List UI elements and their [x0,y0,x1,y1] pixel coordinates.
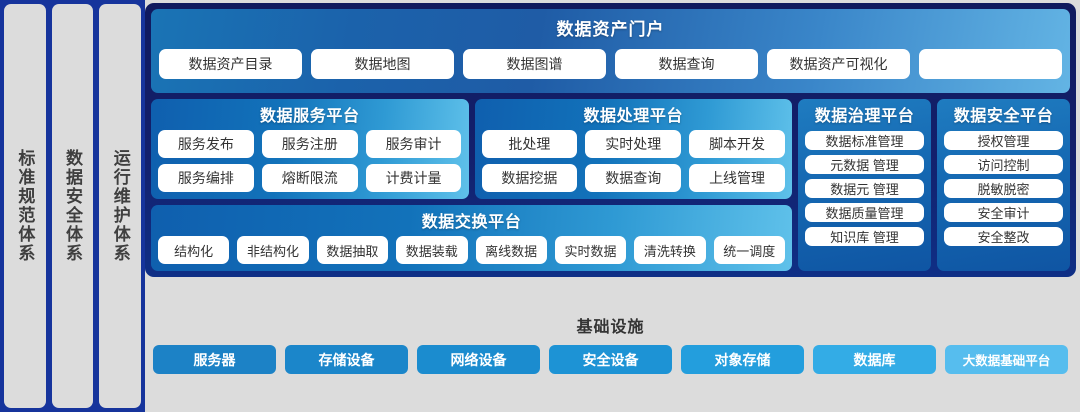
item-circuit-breaker-throttling[interactable]: 熔断限流 [262,164,358,192]
platform-right-group: 数据治理平台 数据标准管理 元数据 管理 数据元 管理 数据质量管理 知识库 管… [798,99,1070,271]
panel-data-security-platform: 数据安全平台 授权管理 访问控制 脱敏脱密 安全审计 安全整改 [937,99,1070,271]
infra-item-database[interactable]: 数据库 [813,345,936,374]
sidebar-item-operations-maintenance-system[interactable]: 运行维护体系 [99,4,141,408]
portal-item-list: 数据资产目录 数据地图 数据图谱 数据查询 数据资产可视化 [159,49,1062,79]
infrastructure-section: 基础设施 服务器 存储设备 网络设备 安全设备 对象存储 数据库 大数据基础平台 [145,282,1076,408]
platform-row: 数据服务平台 服务发布 服务注册 服务审计 服务编排 熔断限流 [151,99,1070,271]
panel-item-grid: 批处理 实时处理 脚本开发 数据挖据 数据查询 上线管理 [482,130,786,192]
portal-item-data-graph[interactable]: 数据图谱 [463,49,606,79]
portal-item-empty[interactable] [919,49,1062,79]
infrastructure-title: 基础设施 [153,314,1068,342]
item-data-mining[interactable]: 数据挖据 [482,164,578,192]
panel-item-grid: 数据标准管理 元数据 管理 数据元 管理 数据质量管理 知识库 管理 [805,131,924,246]
sidebar-item-label: 标准规范体系 [15,149,34,263]
item-release-management[interactable]: 上线管理 [689,164,785,192]
item-data-loading[interactable]: 数据装载 [396,236,467,264]
sidebar-item-standards-system[interactable]: 标准规范体系 [4,4,46,408]
item-billing-metering[interactable]: 计费计量 [366,164,462,192]
infrastructure-item-list: 服务器 存储设备 网络设备 安全设备 对象存储 数据库 大数据基础平台 [153,345,1068,374]
sidebar: 标准规范体系 数据安全体系 运行维护体系 [0,0,145,412]
main-column: 数据资产门户 数据资产目录 数据地图 数据图谱 数据查询 数据资产可视化 [145,0,1080,412]
portal-item-data-map[interactable]: 数据地图 [311,49,454,79]
panel-data-service-platform: 数据服务平台 服务发布 服务注册 服务审计 服务编排 熔断限流 [151,99,469,199]
item-service-audit[interactable]: 服务审计 [366,130,462,158]
infra-item-object-storage[interactable]: 对象存储 [681,345,804,374]
item-service-orchestration[interactable]: 服务编排 [158,164,254,192]
infra-item-network-device[interactable]: 网络设备 [417,345,540,374]
item-realtime-processing[interactable]: 实时处理 [585,130,681,158]
item-security-rectification[interactable]: 安全整改 [944,227,1063,246]
item-metadata-management[interactable]: 元数据 管理 [805,155,924,174]
portal-item-data-asset-catalog[interactable]: 数据资产目录 [159,49,302,79]
item-batch-processing[interactable]: 批处理 [482,130,578,158]
panel-title: 数据治理平台 [805,104,924,130]
panel-item-grid: 服务发布 服务注册 服务审计 服务编排 熔断限流 计费计量 [158,130,462,192]
platform-left-group: 数据服务平台 服务发布 服务注册 服务审计 服务编排 熔断限流 [151,99,792,271]
item-offline-data[interactable]: 离线数据 [476,236,547,264]
architecture-diagram: 标准规范体系 数据安全体系 运行维护体系 数据资产门户 数据资产目录 数据地图 … [0,0,1080,412]
item-data-query[interactable]: 数据查询 [585,164,681,192]
panel-title: 数据安全平台 [944,104,1063,130]
infra-item-security-device[interactable]: 安全设备 [549,345,672,374]
infra-item-bigdata-platform[interactable]: 大数据基础平台 [945,345,1068,374]
panel-title: 数据处理平台 [482,104,786,130]
sidebar-item-label: 运行维护体系 [111,149,130,263]
panel-item-grid: 授权管理 访问控制 脱敏脱密 安全审计 安全整改 [944,131,1063,246]
item-structured[interactable]: 结构化 [158,236,229,264]
infra-item-storage-device[interactable]: 存储设备 [285,345,408,374]
item-data-element-management[interactable]: 数据元 管理 [805,179,924,198]
item-service-publish[interactable]: 服务发布 [158,130,254,158]
item-data-quality-management[interactable]: 数据质量管理 [805,203,924,222]
panel-item-row: 服务编排 熔断限流 计费计量 [158,164,462,192]
item-unified-scheduling[interactable]: 统一调度 [714,236,785,264]
item-script-development[interactable]: 脚本开发 [689,130,785,158]
panel-data-exchange-platform: 数据交换平台 结构化 非结构化 数据抽取 数据装载 离线数据 实时数据 清洗转换… [151,205,792,271]
platform-frame: 数据资产门户 数据资产目录 数据地图 数据图谱 数据查询 数据资产可视化 [145,3,1076,277]
item-knowledge-base-management[interactable]: 知识库 管理 [805,227,924,246]
platform-top-pair: 数据服务平台 服务发布 服务注册 服务审计 服务编排 熔断限流 [151,99,792,199]
item-data-standard-management[interactable]: 数据标准管理 [805,131,924,150]
item-data-extraction[interactable]: 数据抽取 [317,236,388,264]
panel-title: 数据交换平台 [158,210,785,236]
panel-item-row: 服务发布 服务注册 服务审计 [158,130,462,158]
portal-title: 数据资产门户 [159,15,1062,45]
item-authorization-management[interactable]: 授权管理 [944,131,1063,150]
portal-item-data-query[interactable]: 数据查询 [615,49,758,79]
infra-item-server[interactable]: 服务器 [153,345,276,374]
panel-item-row: 结构化 非结构化 数据抽取 数据装载 离线数据 实时数据 清洗转换 统一调度 [158,236,785,264]
panel-item-row: 数据挖据 数据查询 上线管理 [482,164,786,192]
item-realtime-data[interactable]: 实时数据 [555,236,626,264]
portal-item-data-asset-visualization[interactable]: 数据资产可视化 [767,49,910,79]
item-security-audit[interactable]: 安全审计 [944,203,1063,222]
item-access-control[interactable]: 访问控制 [944,155,1063,174]
panel-title: 数据服务平台 [158,104,462,130]
sidebar-item-label: 数据安全体系 [63,149,82,263]
item-desensitization-decryption[interactable]: 脱敏脱密 [944,179,1063,198]
panel-item-row: 批处理 实时处理 脚本开发 [482,130,786,158]
item-service-register[interactable]: 服务注册 [262,130,358,158]
panel-data-governance-platform: 数据治理平台 数据标准管理 元数据 管理 数据元 管理 数据质量管理 知识库 管… [798,99,931,271]
portal-banner: 数据资产门户 数据资产目录 数据地图 数据图谱 数据查询 数据资产可视化 [151,9,1070,93]
item-unstructured[interactable]: 非结构化 [237,236,308,264]
panel-data-processing-platform: 数据处理平台 批处理 实时处理 脚本开发 数据挖据 数据查询 [475,99,793,199]
sidebar-item-data-security-system[interactable]: 数据安全体系 [52,4,94,408]
item-cleansing-transformation[interactable]: 清洗转换 [634,236,705,264]
